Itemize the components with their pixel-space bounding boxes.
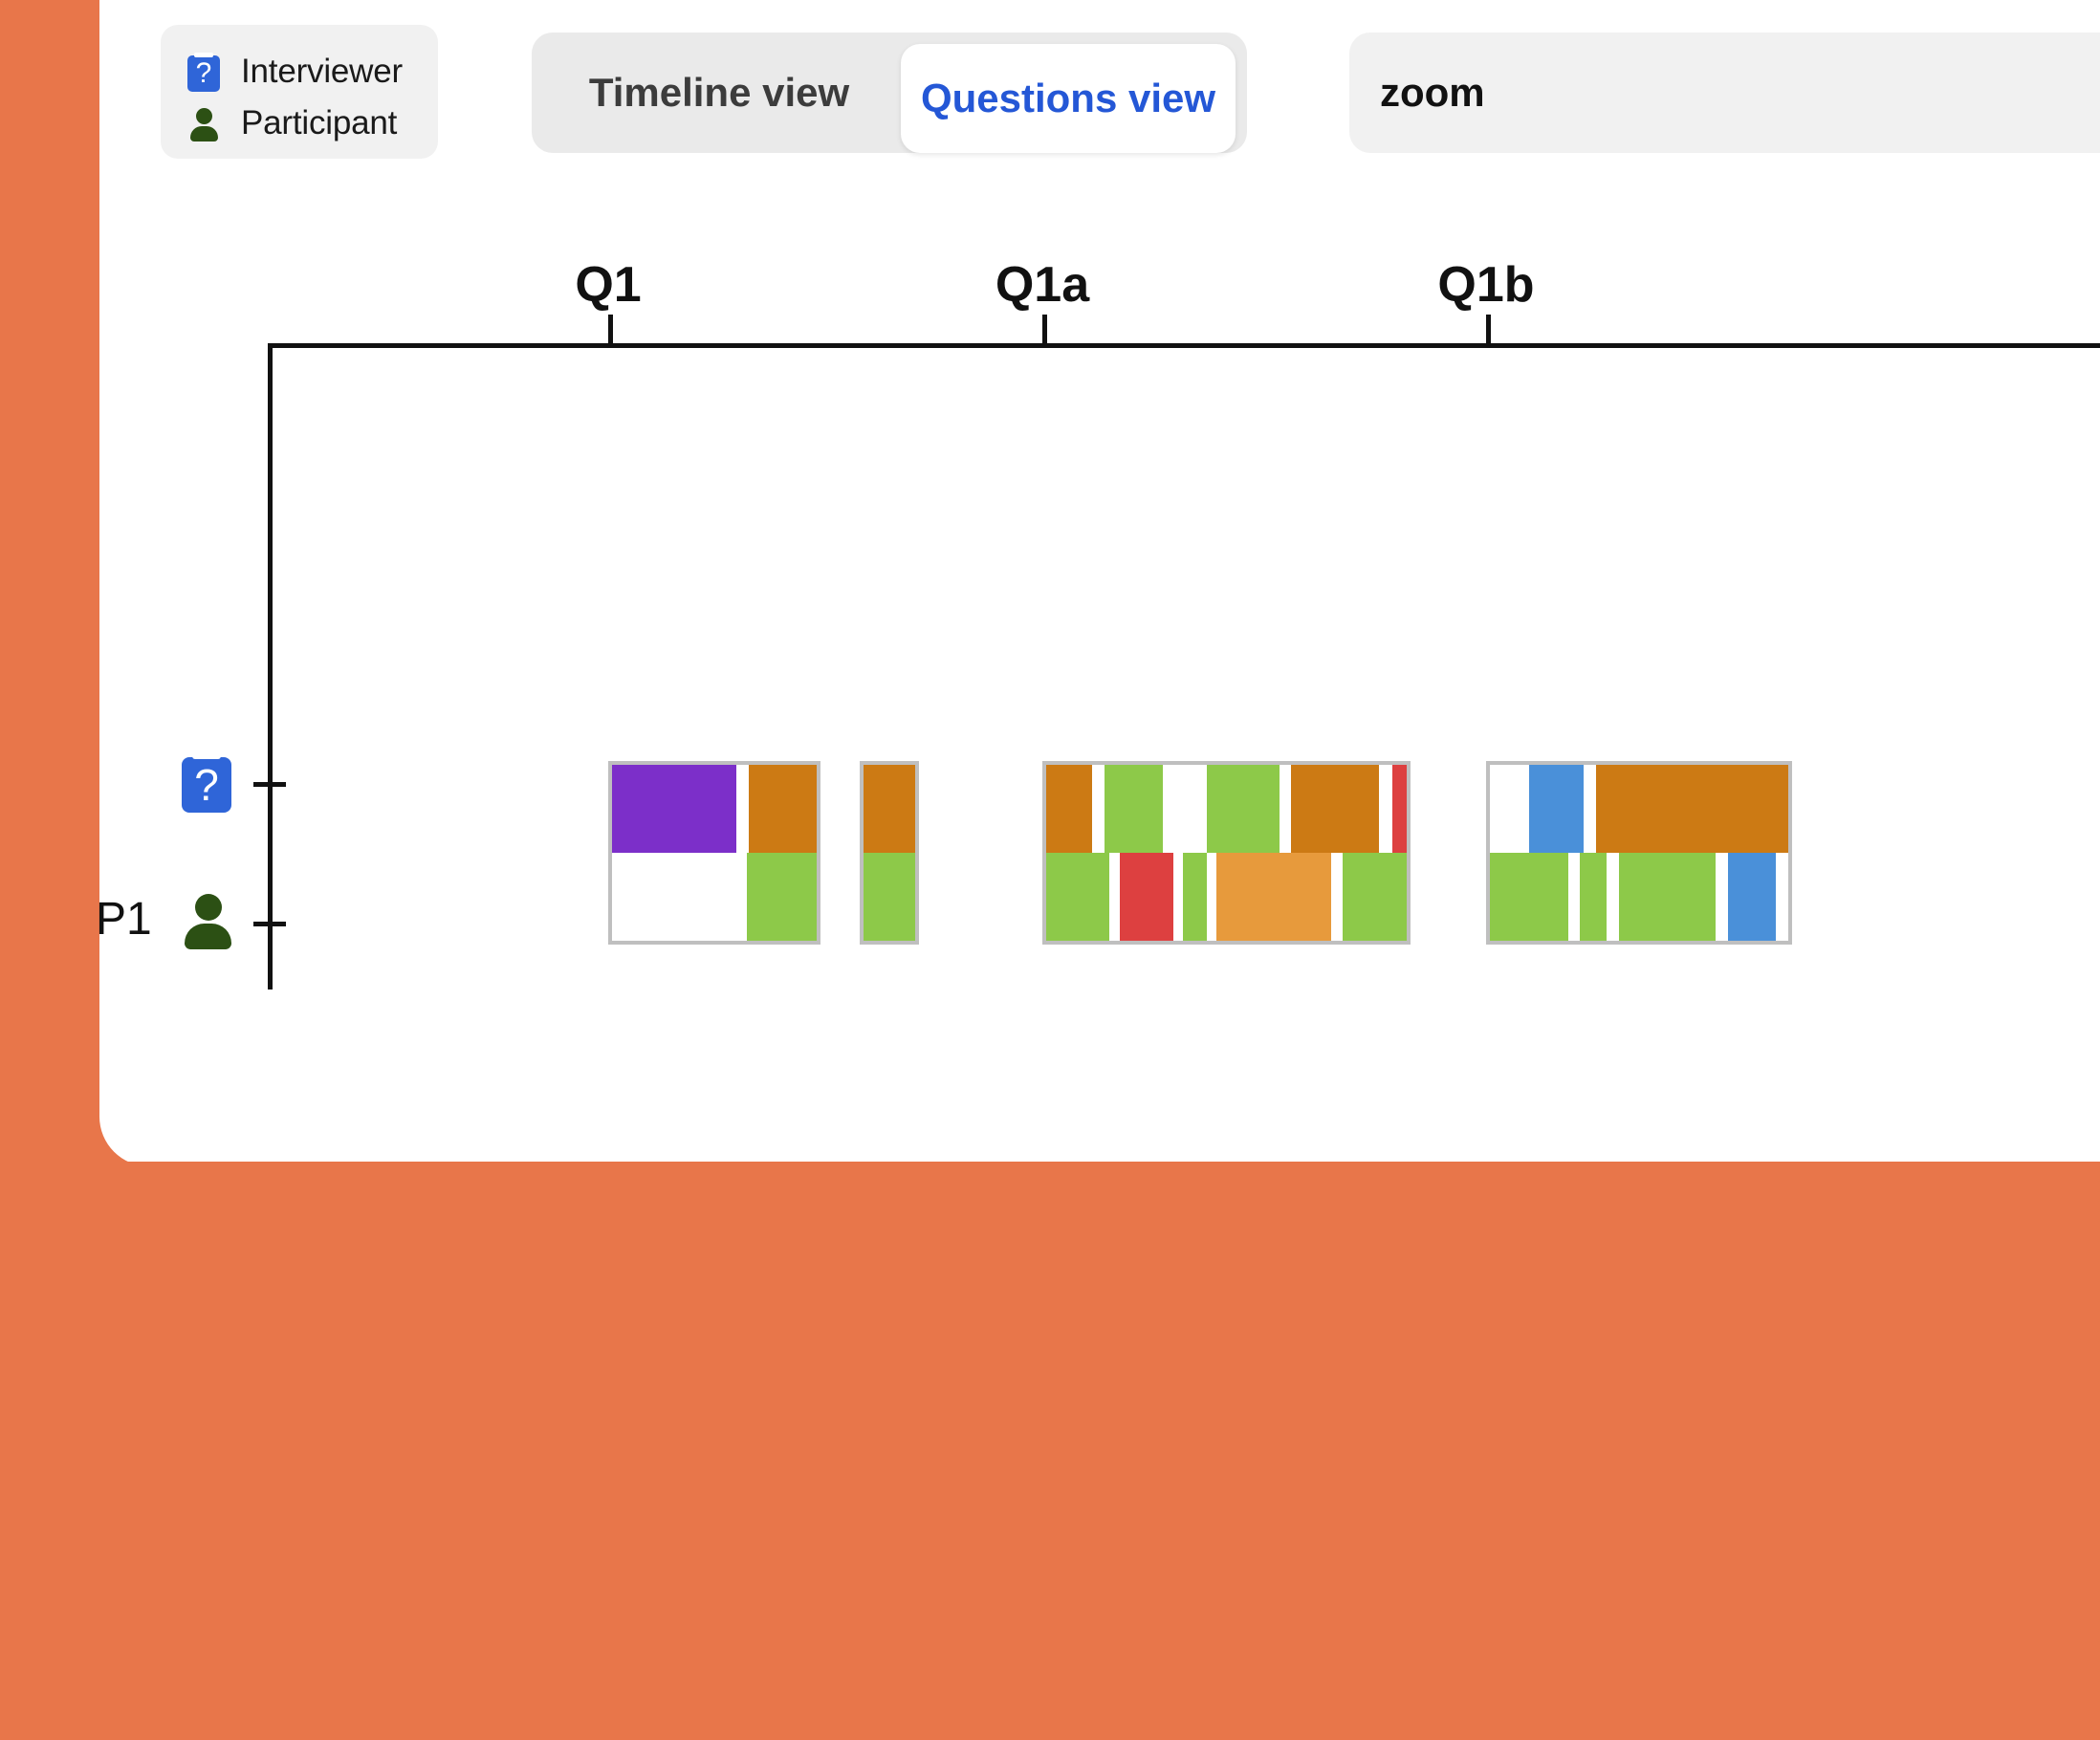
block-lanes bbox=[1046, 765, 1407, 941]
segment-participant-red[interactable] bbox=[1120, 853, 1173, 941]
chart-block-p1-q1a[interactable] bbox=[1042, 761, 1411, 945]
row-tick-participant-p1 bbox=[253, 922, 286, 926]
segment-interviewer-purple[interactable] bbox=[612, 765, 736, 853]
segment-participant-light_orange[interactable] bbox=[1216, 853, 1331, 941]
segment-interviewer-green[interactable] bbox=[1207, 765, 1280, 853]
block-lanes bbox=[1490, 765, 1788, 941]
segment-participant-green[interactable] bbox=[1619, 853, 1716, 941]
question-tick-q1 bbox=[608, 315, 613, 343]
segment-participant-green[interactable] bbox=[1183, 853, 1207, 941]
view-toggle-group: Timeline view Questions view bbox=[532, 33, 1247, 153]
interviewer-clipboard-icon: ? bbox=[182, 751, 231, 813]
segment-interviewer-dark_orange[interactable] bbox=[1596, 765, 1788, 853]
card-bottom-corner bbox=[99, 990, 2100, 1166]
segment-participant-green[interactable] bbox=[1580, 853, 1607, 941]
question-label-q1b: Q1b bbox=[1437, 256, 1534, 314]
legend-label-interviewer: Interviewer bbox=[241, 53, 403, 91]
chart-block-p1-q1[interactable] bbox=[860, 761, 919, 945]
toolbar: ? Interviewer Participant Timeline view … bbox=[0, 0, 2100, 182]
page-bottom-band bbox=[0, 1162, 2100, 1740]
tab-timeline-view[interactable]: Timeline view bbox=[532, 33, 907, 153]
app-root: ? Interviewer Participant Timeline view … bbox=[0, 0, 2100, 1740]
question-label-q1: Q1 bbox=[575, 256, 641, 314]
block-lanes bbox=[612, 765, 817, 941]
segment-interviewer-blue[interactable] bbox=[1529, 765, 1584, 853]
block-lanes bbox=[864, 765, 915, 941]
interviewer-clipboard-icon: ? bbox=[187, 52, 220, 92]
segment-interviewer-dark_orange[interactable] bbox=[1291, 765, 1379, 853]
segment-participant-green[interactable] bbox=[1343, 853, 1407, 941]
tab-questions-view[interactable]: Questions view bbox=[901, 44, 1236, 153]
segment-interviewer-red[interactable] bbox=[1392, 765, 1407, 853]
chart-block-p1-q1[interactable] bbox=[608, 761, 820, 945]
question-tick-q1b bbox=[1486, 315, 1491, 343]
zoom-button[interactable]: zoom bbox=[1349, 33, 2100, 153]
segment-interviewer-green[interactable] bbox=[1105, 765, 1163, 853]
chart-block-p1-q1b[interactable] bbox=[1486, 761, 1792, 945]
segment-participant-green[interactable] bbox=[747, 853, 817, 941]
segment-interviewer-dark_orange[interactable] bbox=[749, 765, 817, 853]
participant-person-icon bbox=[187, 103, 220, 143]
segment-interviewer-dark_orange[interactable] bbox=[864, 765, 915, 853]
question-label-q1a: Q1a bbox=[995, 256, 1089, 314]
legend: ? Interviewer Participant bbox=[161, 25, 438, 159]
segment-participant-green[interactable] bbox=[1490, 853, 1568, 941]
legend-label-participant: Participant bbox=[241, 104, 397, 142]
segment-participant-green[interactable] bbox=[864, 853, 915, 941]
segment-interviewer-dark_orange[interactable] bbox=[1046, 765, 1092, 853]
row-tick-interviewer-p1 bbox=[253, 782, 286, 787]
segment-participant-blue[interactable] bbox=[1728, 853, 1776, 941]
axis-top bbox=[268, 343, 2100, 348]
segment-participant-green[interactable] bbox=[1046, 853, 1109, 941]
question-tick-q1a bbox=[1042, 315, 1047, 343]
participant-person-icon bbox=[182, 890, 233, 951]
legend-item-participant: Participant bbox=[187, 98, 438, 149]
legend-item-interviewer: ? Interviewer bbox=[187, 46, 438, 98]
row-label-p1: P1 bbox=[96, 893, 152, 946]
